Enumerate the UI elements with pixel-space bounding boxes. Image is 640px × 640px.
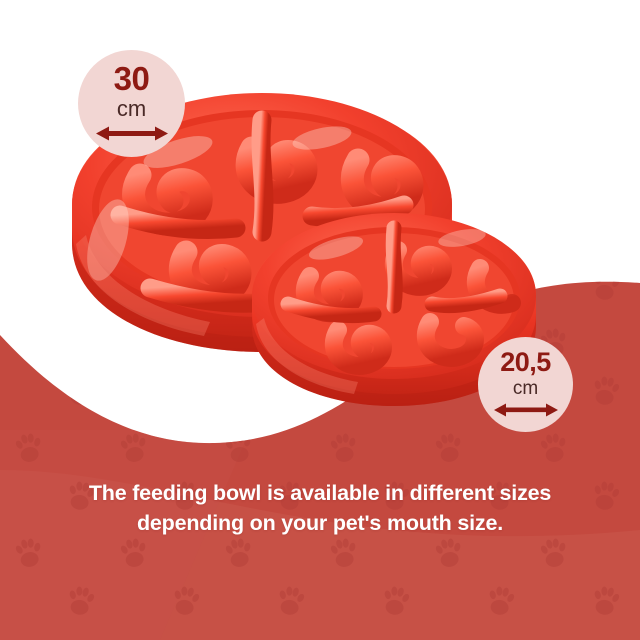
caption-line-2: depending on your pet's mouth size.: [0, 508, 640, 538]
badge-unit: cm: [117, 98, 146, 120]
caption-text: The feeding bowl is available in differe…: [0, 478, 640, 538]
measurement-badge-large: 30 cm: [78, 50, 185, 157]
badge-unit: cm: [513, 379, 538, 398]
product-marketing-image: 30 cm 20,5 cm: [0, 0, 640, 640]
caption-line-1: The feeding bowl is available in differe…: [89, 481, 551, 505]
badge-number: 20,5: [500, 349, 551, 376]
measurement-badge-small: 20,5 cm: [478, 337, 573, 432]
double-arrow-horizontal-icon: [96, 125, 168, 147]
badge-number: 30: [114, 62, 150, 95]
double-arrow-horizontal-icon: [494, 402, 558, 423]
